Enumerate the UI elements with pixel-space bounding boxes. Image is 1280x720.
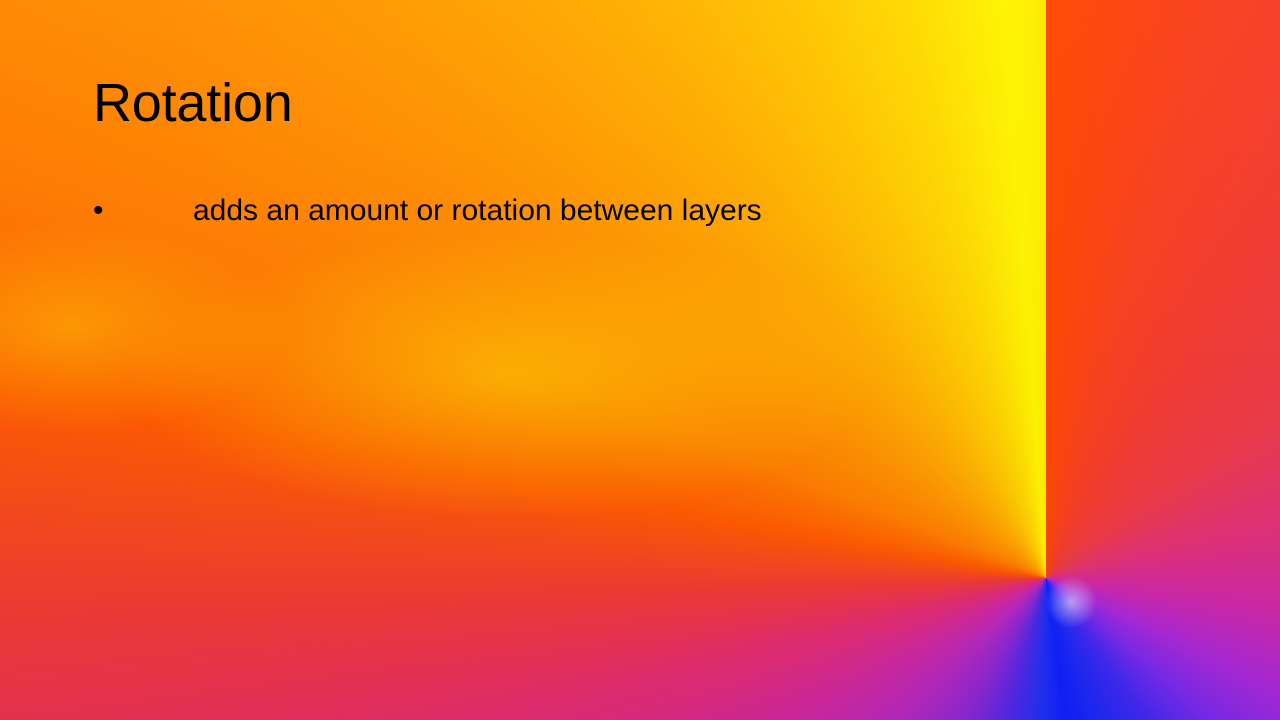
slide-title: Rotation bbox=[93, 72, 293, 134]
slide-bullet-list: • adds an amount or rotation between lay… bbox=[93, 192, 1183, 230]
presentation-slide: Rotation • adds an amount or rotation be… bbox=[0, 0, 1280, 720]
bullet-item-text: adds an amount or rotation between layer… bbox=[193, 192, 1183, 230]
slide-content: Rotation • adds an amount or rotation be… bbox=[0, 0, 1280, 720]
bullet-item: • adds an amount or rotation between lay… bbox=[93, 192, 1183, 230]
bullet-point-icon: • bbox=[93, 192, 111, 230]
